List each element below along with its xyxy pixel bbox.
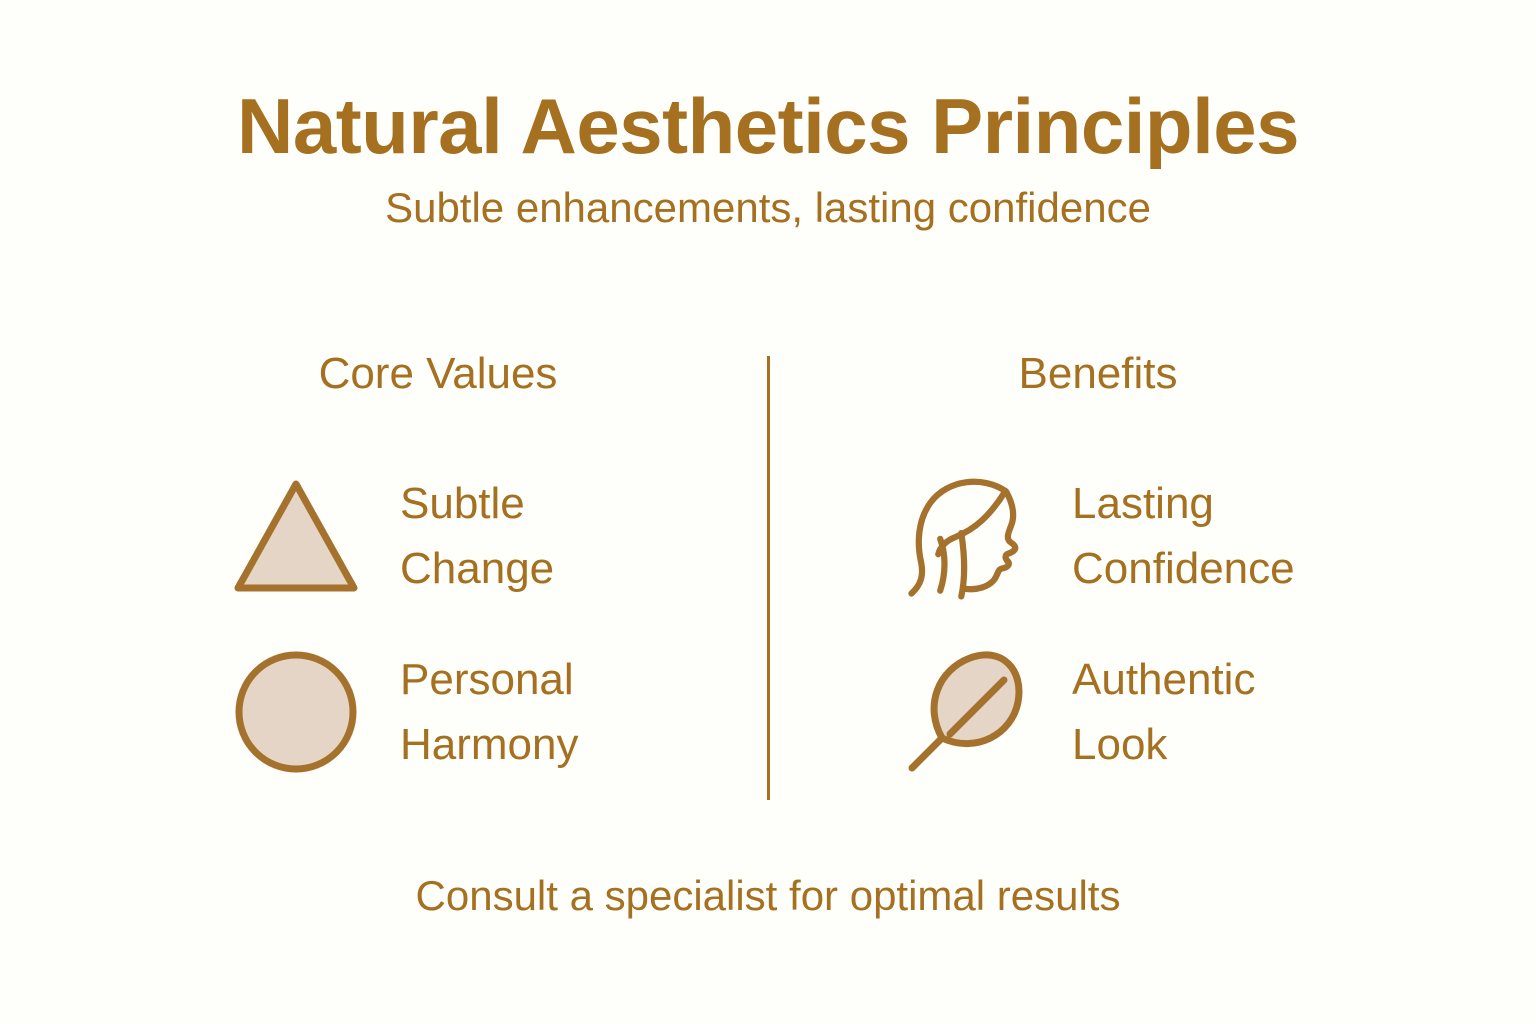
columns-container: Core Values Subtle Change	[0, 344, 1536, 814]
list-item-label: Authentic Look	[1072, 647, 1255, 777]
column-benefits: Benefits	[768, 344, 1428, 814]
infographic-poster: Natural Aesthetics Principles Subtle enh…	[0, 0, 1536, 1024]
page-subtitle: Subtle enhancements, lasting confidence	[0, 185, 1536, 231]
list-item[interactable]: Lasting Confidence	[898, 448, 1536, 624]
leaf-icon	[898, 642, 1038, 782]
page-title: Natural Aesthetics Principles	[0, 86, 1536, 167]
circle-icon	[226, 642, 366, 782]
triangle-icon	[226, 466, 366, 606]
items-list-benefits: Lasting Confidence Authentic Look	[898, 448, 1536, 800]
header: Natural Aesthetics Principles Subtle enh…	[0, 86, 1536, 231]
column-heading-core-values: Core Values	[108, 344, 768, 396]
list-item-label: Personal Harmony	[400, 647, 579, 777]
footer-note: Consult a specialist for optimal results	[0, 872, 1536, 920]
column-core-values: Core Values Subtle Change	[108, 344, 768, 814]
column-heading-benefits: Benefits	[768, 344, 1428, 396]
list-item-label: Lasting Confidence	[1072, 471, 1295, 601]
face-profile-icon	[898, 466, 1038, 606]
list-item-label: Subtle Change	[400, 471, 554, 601]
list-item[interactable]: Authentic Look	[898, 624, 1536, 800]
